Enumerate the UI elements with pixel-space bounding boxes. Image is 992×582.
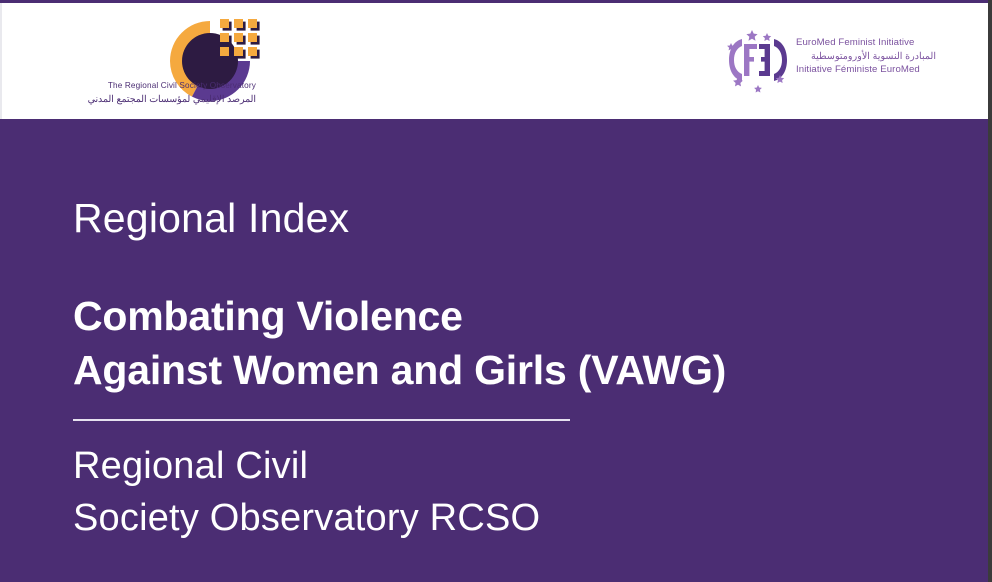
slide-page: The Regional Civil Society Observatory ا… <box>0 0 992 582</box>
emfi-logo-mark <box>722 27 792 93</box>
emfi-name-french: Initiative Féministe EuroMed <box>796 63 936 77</box>
rcso-logo-lockup: The Regional Civil Society Observatory ا… <box>66 11 306 115</box>
page-subtitle-line-2: Society Observatory RCSO <box>73 493 933 544</box>
emfi-name-arabic: المبادرة النسوية الأورومتوسطية <box>796 50 936 64</box>
title-block: Regional Index Combating Violence Agains… <box>73 119 933 544</box>
rcso-name-english: The Regional Civil Society Observatory <box>66 81 256 91</box>
page-subtitle: Regional Civil Society Observatory RCSO <box>73 441 933 544</box>
page-title-line-1: Combating Violence <box>73 290 933 344</box>
top-border-rule <box>0 0 992 3</box>
rcso-logo-text: The Regional Civil Society Observatory ا… <box>66 81 256 105</box>
page-title: Combating Violence Against Women and Gir… <box>73 290 933 397</box>
right-border-rule <box>988 0 992 582</box>
title-panel: Regional Index Combating Violence Agains… <box>0 119 992 582</box>
title-divider <box>73 419 570 421</box>
page-title-line-2: Against Women and Girls (VAWG) <box>73 344 933 398</box>
page-kicker: Regional Index <box>73 197 933 240</box>
emfi-logo-lockup: EuroMed Feminist Initiative المبادرة الن… <box>722 27 932 97</box>
rcso-name-arabic: المرصد الإقليمي لمؤسسات المجتمع المدني <box>66 93 256 105</box>
emfi-name-english: EuroMed Feminist Initiative <box>796 36 936 50</box>
emfi-logo-text: EuroMed Feminist Initiative المبادرة الن… <box>796 36 936 77</box>
header-band: The Regional Civil Society Observatory ا… <box>0 3 992 119</box>
page-subtitle-line-1: Regional Civil <box>73 441 933 492</box>
left-border-rule <box>0 3 2 119</box>
